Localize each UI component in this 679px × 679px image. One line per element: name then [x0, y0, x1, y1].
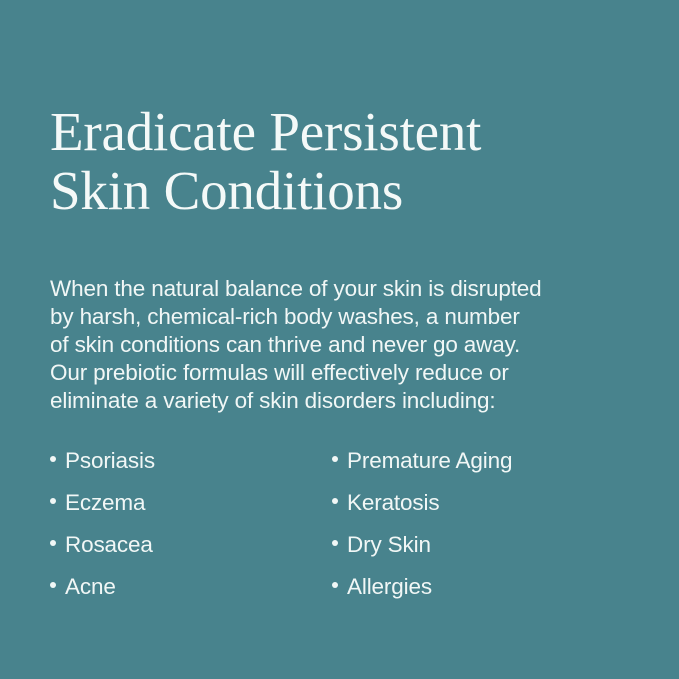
conditions-list-left: Psoriasis Eczema Rosacea Acne: [50, 447, 332, 615]
bullet-icon: [50, 456, 56, 462]
list-item: Acne: [50, 573, 332, 615]
bullet-icon: [332, 498, 338, 504]
promo-card: Eradicate Persistent Skin Conditions Whe…: [0, 0, 679, 679]
body-paragraph: When the natural balance of your skin is…: [50, 275, 610, 415]
bullet-icon: [50, 498, 56, 504]
list-item: Eczema: [50, 489, 332, 531]
bullet-icon: [332, 540, 338, 546]
bullet-icon: [332, 456, 338, 462]
list-item: Dry Skin: [332, 531, 614, 573]
list-item: Psoriasis: [50, 447, 332, 489]
list-item-label: Psoriasis: [65, 447, 155, 475]
bullet-icon: [332, 582, 338, 588]
list-item: Rosacea: [50, 531, 332, 573]
list-item-label: Keratosis: [347, 489, 439, 517]
list-item-label: Acne: [65, 573, 116, 601]
list-item: Allergies: [332, 573, 614, 615]
list-item-label: Dry Skin: [347, 531, 431, 559]
list-item: Keratosis: [332, 489, 614, 531]
conditions-list-right: Premature Aging Keratosis Dry Skin Aller…: [332, 447, 614, 615]
list-item-label: Premature Aging: [347, 447, 512, 475]
list-item-label: Rosacea: [65, 531, 153, 559]
list-item-label: Allergies: [347, 573, 432, 601]
bullet-icon: [50, 582, 56, 588]
conditions-lists: Psoriasis Eczema Rosacea Acne: [50, 447, 630, 615]
bullet-icon: [50, 540, 56, 546]
list-item-label: Eczema: [65, 489, 145, 517]
list-item: Premature Aging: [332, 447, 614, 489]
page-title: Eradicate Persistent Skin Conditions: [50, 102, 610, 220]
